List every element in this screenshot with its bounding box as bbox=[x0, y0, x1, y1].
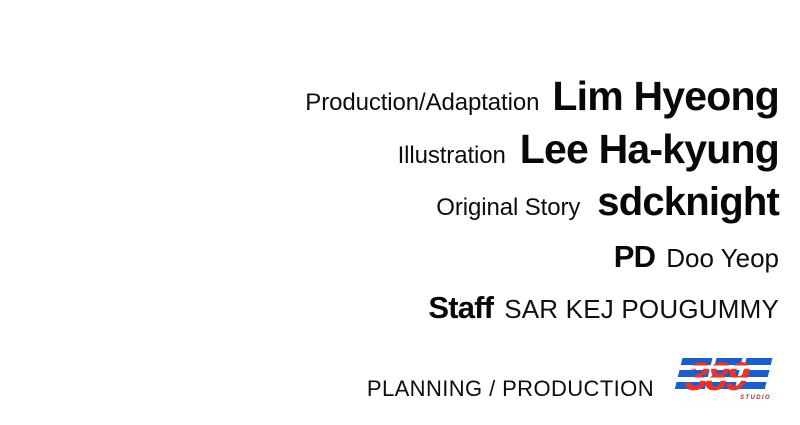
credit-role-label: PD bbox=[614, 239, 655, 275]
svg-text:389: 389 bbox=[683, 354, 753, 399]
credit-row-staff: Staff SAR KEJ POUGUMMY bbox=[428, 290, 779, 326]
studio-logo-subtext: STUDIO bbox=[740, 395, 771, 401]
credit-person-name: Lim Hyeong bbox=[552, 73, 779, 120]
credit-person-name: Doo Yeop bbox=[666, 243, 779, 274]
credit-row-production: Production/Adaptation Lim Hyeong bbox=[305, 73, 779, 120]
credits-sequence: Production/Adaptation Lim Hyeong Illustr… bbox=[0, 0, 800, 425]
credit-person-name: sdcknight bbox=[597, 180, 779, 225]
studio-389-logo: 389 STUDIO bbox=[668, 348, 779, 404]
credit-row-pd: PD Doo Yeop bbox=[614, 239, 779, 275]
credit-role-label: Illustration bbox=[398, 142, 506, 170]
planning-production-label: PLANNING / PRODUCTION bbox=[367, 376, 654, 402]
credit-person-name: Lee Ha-kyung bbox=[520, 126, 779, 173]
credit-row-planning-production: PLANNING / PRODUCTION bbox=[367, 348, 779, 404]
credit-role-label: Original Story bbox=[436, 194, 580, 222]
credit-role-label: Staff bbox=[428, 290, 493, 326]
credit-person-name: SAR KEJ POUGUMMY bbox=[504, 294, 779, 325]
credit-row-illustration: Illustration Lee Ha-kyung bbox=[398, 126, 779, 173]
credit-role-label: Production/Adaptation bbox=[305, 89, 539, 117]
credit-row-original-story: Original Story sdcknight bbox=[436, 180, 779, 225]
